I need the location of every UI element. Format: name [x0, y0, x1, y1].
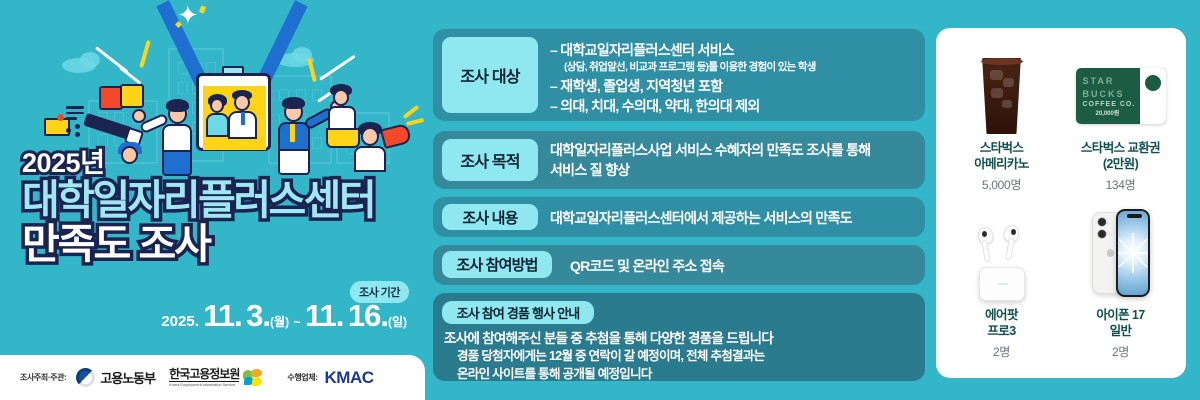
prize-name-line1: 스타벅스 — [974, 141, 1029, 157]
info-panel: 조사 대상 – 대학교일자리플러스센터 서비스 (상담, 취업알선, 비교과 프… — [430, 0, 930, 400]
prize-item-iphone: 아이폰 17 일반 2명 — [1061, 203, 1180, 370]
info-chip-target: 조사 대상 — [442, 37, 538, 113]
hero-panel: ✦ — [0, 0, 425, 400]
period-dow2: (일) — [388, 315, 407, 329]
hero-year: 2025년 — [22, 150, 422, 177]
info-text-purpose: 대학일자리플러스사업 서비스 수혜자의 만족도 조사를 통해 서비스 질 향상 — [550, 141, 870, 180]
prize-showcase-card: 스타벅스 아메리카노 5,000명 STAR BUCKS COFFEE CO. … — [936, 28, 1186, 378]
info-row-purpose: 조사 목적 대학일자리플러스사업 서비스 수혜자의 만족도 조사를 통해 서비스… — [433, 131, 925, 189]
badge-photo — [203, 86, 266, 150]
hero-title-block: 2025년 대학일자리플러스센터 만족도 조사 — [22, 150, 422, 266]
prize-name-line2: 프로3 — [985, 324, 1018, 340]
period-separator: ~ — [294, 315, 301, 329]
kmac-label: KMAC — [325, 368, 374, 388]
prize-name-line1: 아이폰 17 — [1096, 308, 1144, 324]
prize-item-americano: 스타벅스 아메리카노 5,000명 — [942, 36, 1061, 203]
prize-notice-line-1: 조사에 참여해주신 분들 중 추첨을 통해 다양한 경품을 드립니다 — [444, 329, 925, 348]
info-text-method: QR코드 및 온라인 주소 접속 — [570, 256, 724, 276]
vendor-logo: 수행업체: KMAC — [287, 368, 373, 388]
keis-logo: 한국고용정보원 Korea Employment Information Ser… — [169, 368, 263, 387]
cloud-icon — [80, 52, 100, 68]
prize-name-line1: 에어팟 — [985, 308, 1018, 324]
keis-label-kr: 한국고용정보원 — [169, 368, 239, 382]
target-line-3: – 재학생, 졸업생, 지역청년 포함 — [550, 76, 816, 96]
keis-label-en: Korea Employment Information Service — [169, 383, 239, 387]
id-badge-card — [196, 73, 271, 151]
prize-name-line2: 아메리카노 — [974, 157, 1029, 173]
target-line-4: – 의대, 치대, 수의대, 약대, 한의대 제외 — [550, 96, 816, 116]
prize-notice-text: 조사에 참여해주신 분들 중 추첨을 통해 다양한 경품을 드립니다 경품 당첨… — [444, 329, 925, 384]
coffee-cup-shape — [980, 58, 1024, 134]
period-year: 2025. — [161, 313, 199, 330]
organizer-footer: 조사주최·주관: 고용노동부 한국고용정보원 Korea Employment … — [0, 355, 425, 400]
target-line-1: – 대학교일자리플러스센터 서비스 — [550, 40, 816, 60]
prize-name-airpods: 에어팟 프로3 — [985, 308, 1018, 339]
prize-name-line1: 스타벅스 교환권 — [1081, 141, 1160, 157]
prize-item-giftcard: STAR BUCKS COFFEE CO. 20,000원 스타벅스 교환권 (… — [1061, 36, 1180, 203]
hero-title-line2: 만족도 조사 — [22, 223, 422, 266]
info-text-content: 대학교일자리플러스센터에서 제공하는 서비스의 만족도 — [550, 208, 852, 228]
hero-title-line1: 대학일자리플러스센터 — [22, 179, 422, 222]
purpose-line-1: 대학일자리플러스사업 서비스 수혜자의 만족도 조사를 통해 — [550, 141, 870, 161]
vendor-label: 수행업체: — [287, 372, 317, 383]
prize-name-line2: (2만원) — [1081, 157, 1160, 173]
survey-period: 2025. 11. 3.(월) ~ 11. 16.(일) — [0, 298, 425, 334]
text-lines-icon — [66, 106, 84, 123]
sparkle-icon — [199, 5, 206, 13]
prize-name-iphone: 아이폰 17 일반 — [1096, 308, 1144, 339]
molab-label: 고용노동부 — [100, 368, 155, 387]
period-day1: 3. — [246, 298, 270, 333]
prize-count-giftcard: 134명 — [1106, 176, 1136, 193]
giftcard-text-1: STAR — [1083, 76, 1115, 86]
period-month2: 11. — [305, 298, 343, 333]
molab-logo: 고용노동부 — [76, 368, 155, 387]
butterfly-icon — [243, 369, 263, 386]
notification-dot — [57, 114, 64, 121]
iphone-shape — [1092, 209, 1150, 301]
puzzle-piece-icon — [120, 84, 144, 108]
share-icon — [66, 124, 80, 136]
starbucks-giftcard-icon: STAR BUCKS COFFEE CO. 20,000원 — [1076, 36, 1166, 134]
prize-notice-row: 조사 참여 경품 행사 안내 조사에 참여해주신 분들 중 추첨을 통해 다양한… — [433, 293, 925, 381]
confetti-streak — [119, 66, 141, 84]
airpods-shape — [971, 223, 1033, 301]
prize-name-americano: 스타벅스 아메리카노 — [974, 141, 1029, 172]
prize-notice-line-2: 경품 당첨자에게는 12월 중 연락이 갈 예정이며, 전체 추첨결과는 — [444, 348, 925, 366]
purpose-line-2: 서비스 질 향상 — [550, 161, 870, 181]
giftcard-shape: STAR BUCKS COFFEE CO. 20,000원 — [1076, 68, 1166, 124]
info-chip-purpose: 조사 목적 — [442, 139, 538, 181]
prize-count-iphone: 2명 — [1112, 343, 1129, 360]
target-line-2: (상담, 취업알선, 비교과 프로그램 등)를 이용한 경험이 있는 학생 — [550, 60, 816, 75]
iced-americano-icon — [980, 36, 1024, 134]
prize-notice-chip: 조사 참여 경품 행사 안내 — [442, 301, 594, 324]
info-chip-method: 조사 참여방법 — [442, 251, 552, 278]
period-month1: 11. — [203, 298, 241, 333]
period-day2: 16. — [348, 298, 388, 333]
prize-item-airpods: 에어팟 프로3 2명 — [942, 203, 1061, 370]
period-dow1: (월) — [270, 315, 289, 329]
info-row-method: 조사 참여방법 QR코드 및 온라인 주소 접속 — [433, 245, 925, 285]
prize-notice-line-3: 온라인 사이트를 통해 공개될 예정입니다 — [444, 366, 925, 384]
prize-count-airpods: 2명 — [993, 343, 1010, 360]
airpods-icon — [971, 203, 1033, 301]
taegeuk-icon — [76, 368, 95, 387]
iphone-icon — [1092, 203, 1150, 301]
info-chip-content: 조사 내용 — [442, 204, 538, 230]
prize-name-giftcard: 스타벅스 교환권 (2만원) — [1081, 141, 1160, 172]
starbucks-logo-icon — [1145, 75, 1161, 91]
host-label: 조사주최·주관: — [20, 372, 66, 383]
info-row-target: 조사 대상 – 대학교일자리플러스센터 서비스 (상담, 취업알선, 비교과 프… — [433, 29, 925, 121]
giftcard-text-3: COFFEE CO. — [1083, 101, 1136, 108]
prize-name-line2: 일반 — [1096, 324, 1144, 340]
giftcard-amount: 20,000원 — [1096, 108, 1120, 117]
promo-banner: ✦ — [0, 0, 1200, 400]
info-row-content: 조사 내용 대학교일자리플러스센터에서 제공하는 서비스의 만족도 — [433, 197, 925, 237]
curly-confetti — [139, 40, 151, 68]
prize-count-americano: 5,000명 — [982, 176, 1021, 193]
giftcard-text-2: BUCKS — [1083, 89, 1125, 99]
confetti-streak — [319, 55, 355, 81]
info-text-target: – 대학교일자리플러스센터 서비스 (상담, 취업알선, 비교과 프로그램 등)… — [550, 40, 816, 116]
